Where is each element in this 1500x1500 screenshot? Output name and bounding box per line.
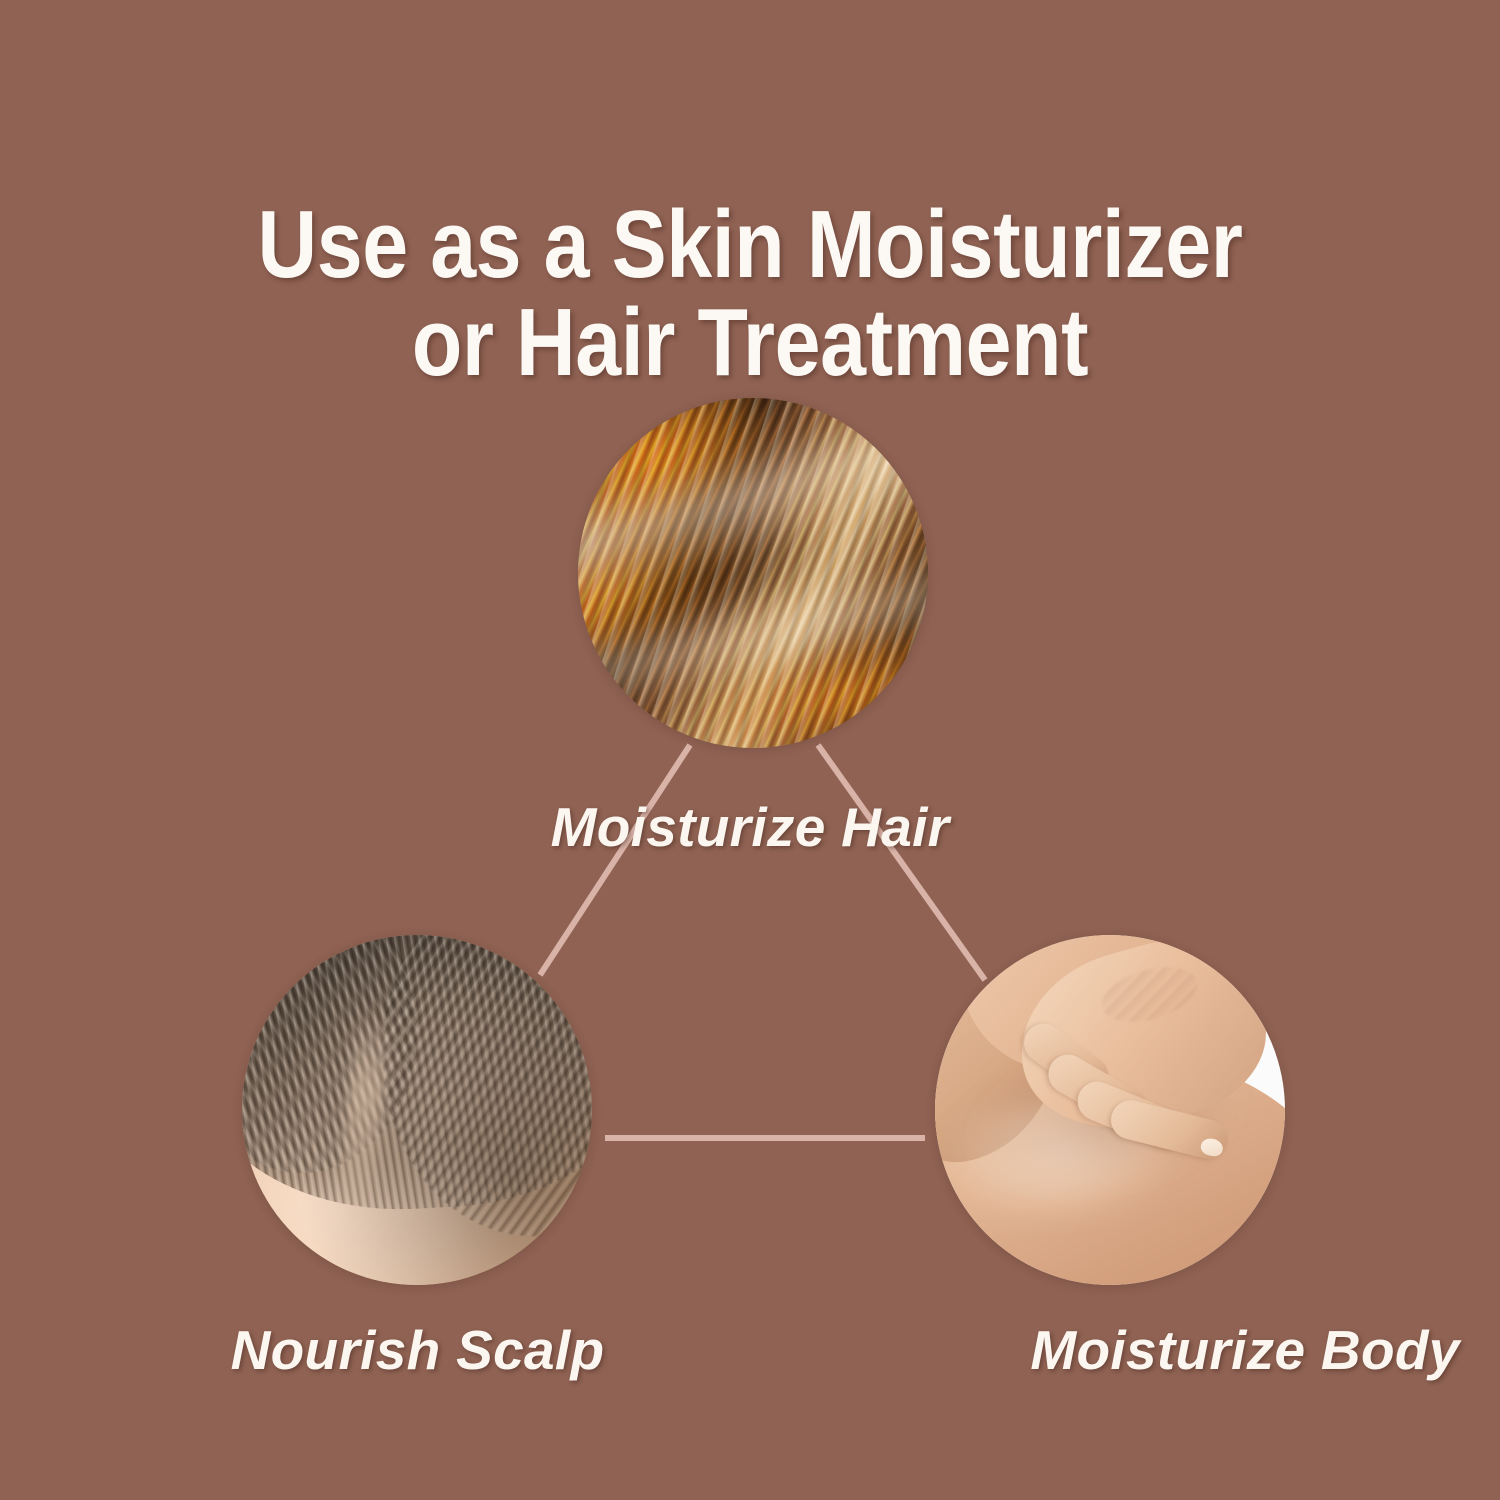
image-circle-moisturize-hair: [578, 398, 928, 748]
label-moisturize-hair: Moisturize Hair: [0, 795, 1500, 859]
hand-veins: [1096, 957, 1204, 1031]
label-moisturize-body: Moisturize Body: [700, 1318, 1500, 1382]
image-circle-nourish-scalp: [242, 935, 592, 1285]
scalp-shadow: [242, 935, 592, 1285]
infographic-canvas: Use as a Skin Moisturizer or Hair Treatm…: [0, 0, 1500, 1500]
image-circle-moisturize-body: [935, 935, 1285, 1285]
